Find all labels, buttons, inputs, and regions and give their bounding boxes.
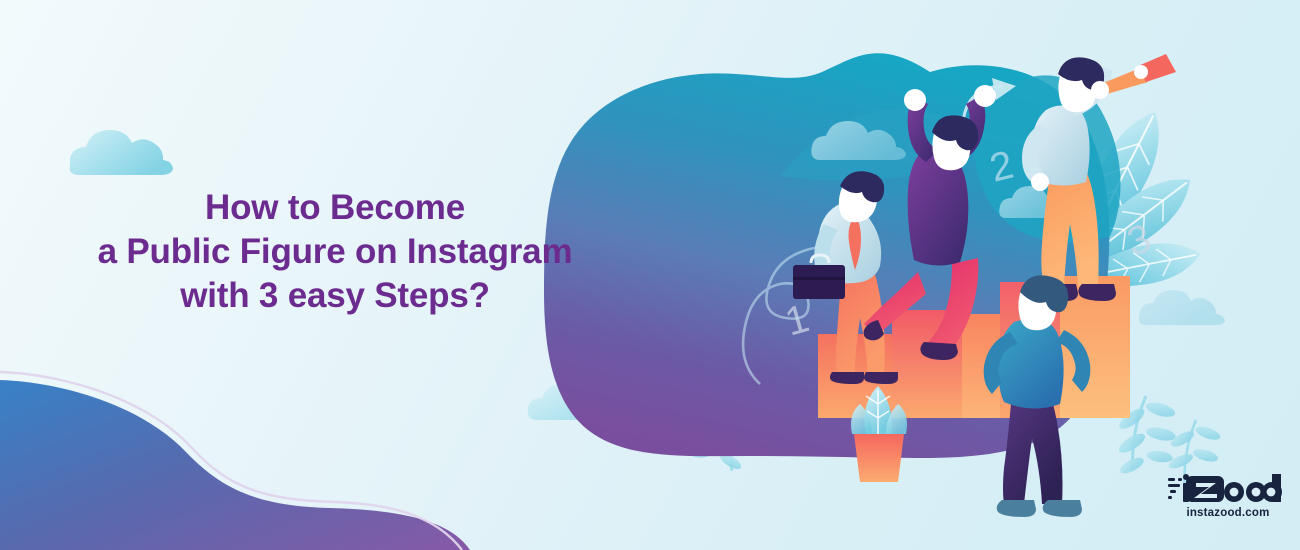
headline-line-1: How to Become bbox=[30, 186, 640, 230]
banner-root: 1 2 3 bbox=[0, 0, 1300, 550]
izood-logo-icon bbox=[1168, 470, 1286, 506]
logo[interactable]: instazood.com bbox=[1168, 470, 1288, 519]
headline-line-2: a Public Figure on Instagram bbox=[30, 230, 640, 274]
headline: How to Become a Public Figure on Instagr… bbox=[30, 186, 640, 318]
logo-url: instazood.com bbox=[1168, 507, 1288, 519]
headline-line-3: with 3 easy Steps? bbox=[30, 274, 640, 318]
